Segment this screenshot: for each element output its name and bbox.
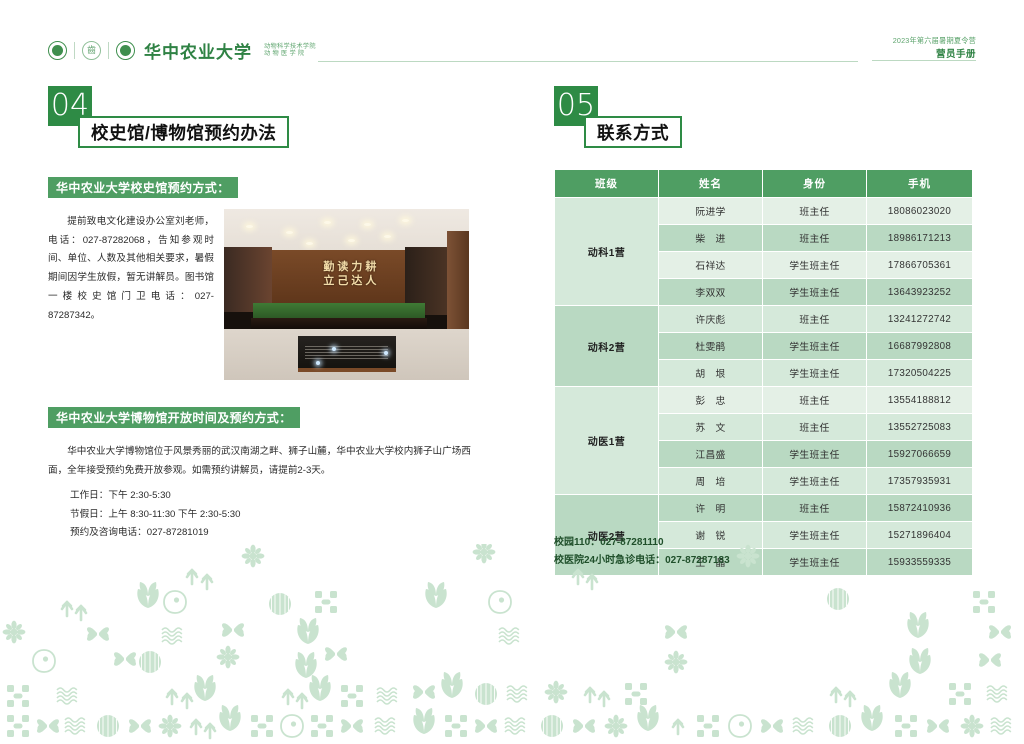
table-row: 动医1营彭 忠班主任13554188812 <box>555 387 973 414</box>
header-right-rule <box>872 60 976 61</box>
college-emblem-icon <box>116 41 135 60</box>
cell-role: 班主任 <box>763 387 867 414</box>
cell-role: 学生班主任 <box>763 360 867 387</box>
contacts-table: 班级 姓名 身份 手机 动科1营阮进学班主任18086023020柴 进班主任1… <box>554 169 973 576</box>
subheading-museum-label: 华中农业大学博物馆开放时间及预约方式： <box>56 409 292 426</box>
cell-phone: 15933559335 <box>867 549 973 576</box>
cell-name: 石祥达 <box>659 252 763 279</box>
cell-role: 班主任 <box>763 495 867 522</box>
museum-hours-list: 工作日：下午 2:30-5:30 节假日：上午 8:30-11:30 下午 2:… <box>70 487 240 543</box>
cell-name: 彭 忠 <box>659 387 763 414</box>
cell-phone: 17357935931 <box>867 468 973 495</box>
cell-name: 阮进学 <box>659 198 763 225</box>
university-emblem-icon <box>48 41 67 60</box>
cell-phone: 15271896404 <box>867 522 973 549</box>
university-name: 华中农业大学 <box>144 38 252 63</box>
section-04-title-box: 校史馆/博物馆预约办法 <box>78 116 289 148</box>
wall-calligraphy: 勤读力耕立己达人 <box>323 260 379 288</box>
cell-phone: 18986171213 <box>867 225 973 252</box>
cell-name: 李双双 <box>659 279 763 306</box>
cell-phone: 13554188812 <box>867 387 973 414</box>
cell-phone: 16687992808 <box>867 333 973 360</box>
museum-paragraph: 华中农业大学博物馆位于风景秀丽的武汉南湖之畔、狮子山麓，华中农业大学校内狮子山广… <box>48 443 471 480</box>
cell-phone: 13552725083 <box>867 414 973 441</box>
subheading-archive-hall: 华中农业大学校史馆预约方式： <box>48 177 238 198</box>
group-class-cell: 动科1营 <box>555 198 659 306</box>
section-05-title-box: 联系方式 <box>584 116 682 148</box>
table-row: 动医2营许 明班主任15872410936 <box>555 495 973 522</box>
museum-hours-weekday: 工作日：下午 2:30-5:30 <box>70 487 240 506</box>
cell-phone: 13241272742 <box>867 306 973 333</box>
subheading-archive-hall-label: 华中农业大学校史馆预约方式： <box>56 179 230 196</box>
cell-name: 杜雯鹃 <box>659 333 763 360</box>
hospital-line: 校医院24小时急诊电话：027-87287183 <box>554 552 730 570</box>
event-name: 2023年第六届暑期夏令营 <box>893 36 976 47</box>
cell-name: 江昌盛 <box>659 441 763 468</box>
cell-name: 胡 垠 <box>659 360 763 387</box>
college-names: 动物科学技术学院 动 物 医 学 院 <box>264 44 316 57</box>
cell-role: 学生班主任 <box>763 468 867 495</box>
group-class-cell: 动医1营 <box>555 387 659 495</box>
cell-phone: 18086023020 <box>867 198 973 225</box>
table-header-row: 班级 姓名 身份 手机 <box>555 170 973 198</box>
header-rule <box>318 61 858 62</box>
cell-phone: 13643923252 <box>867 279 973 306</box>
seal-icon: 齒 <box>82 41 101 60</box>
cell-role: 班主任 <box>763 225 867 252</box>
cell-role: 学生班主任 <box>763 279 867 306</box>
column-header-name: 姓名 <box>659 170 763 198</box>
group-class-cell: 动科2营 <box>555 306 659 387</box>
archive-hall-paragraph: 提前致电文化建设办公室刘老师，电话：027-87282068，告知参观时间、单位… <box>48 213 214 325</box>
cell-name: 苏 文 <box>659 414 763 441</box>
brochure-page: 齒 华中农业大学 动物科学技术学院 动 物 医 学 院 2023年第六届暑期夏令… <box>0 0 1024 744</box>
cell-phone: 15927066659 <box>867 441 973 468</box>
cell-role: 学生班主任 <box>763 549 867 576</box>
cell-role: 学生班主任 <box>763 333 867 360</box>
cell-role: 学生班主任 <box>763 522 867 549</box>
museum-hours-holiday: 节假日：上午 8:30-11:30 下午 2:30-5:30 <box>70 506 240 525</box>
cell-name: 许 明 <box>659 495 763 522</box>
page-header: 齒 华中农业大学 动物科学技术学院 动 物 医 学 院 2023年第六届暑期夏令… <box>0 36 1024 76</box>
header-event-info: 2023年第六届暑期夏令营 营员手册 <box>893 36 976 62</box>
museum-hall-photo: 勤读力耕立己达人 <box>224 209 469 380</box>
cell-name: 周 培 <box>659 468 763 495</box>
header-divider-2 <box>108 42 109 59</box>
cell-phone: 15872410936 <box>867 495 973 522</box>
column-header-class: 班级 <box>555 170 659 198</box>
column-header-phone: 手机 <box>867 170 973 198</box>
cell-role: 学生班主任 <box>763 252 867 279</box>
cell-name: 柴 进 <box>659 225 763 252</box>
cell-phone: 17866705361 <box>867 252 973 279</box>
college-line-2: 动 物 医 学 院 <box>264 51 316 57</box>
table-row: 动科2营许庆彪班主任13241272742 <box>555 306 973 333</box>
emergency-contacts: 校园110：027-87281110 校医院24小时急诊电话：027-87287… <box>554 534 730 569</box>
museum-booking-phone: 预约及咨询电话：027-87281019 <box>70 524 240 543</box>
cell-name: 许庆彪 <box>659 306 763 333</box>
cell-role: 班主任 <box>763 198 867 225</box>
header-divider <box>74 42 75 59</box>
column-header-role: 身份 <box>763 170 867 198</box>
cell-role: 学生班主任 <box>763 441 867 468</box>
header-branding: 齒 华中农业大学 动物科学技术学院 动 物 医 学 院 <box>48 38 316 63</box>
contacts-table-body: 动科1营阮进学班主任18086023020柴 进班主任18986171213石祥… <box>555 198 973 576</box>
section-05-title: 联系方式 <box>597 120 669 145</box>
cell-phone: 17320504225 <box>867 360 973 387</box>
section-04-title: 校史馆/博物馆预约办法 <box>91 120 276 145</box>
subheading-museum: 华中农业大学博物馆开放时间及预约方式： <box>48 407 300 428</box>
cell-role: 班主任 <box>763 414 867 441</box>
cell-role: 班主任 <box>763 306 867 333</box>
campus-110-line: 校园110：027-87281110 <box>554 534 730 552</box>
table-row: 动科1营阮进学班主任18086023020 <box>555 198 973 225</box>
